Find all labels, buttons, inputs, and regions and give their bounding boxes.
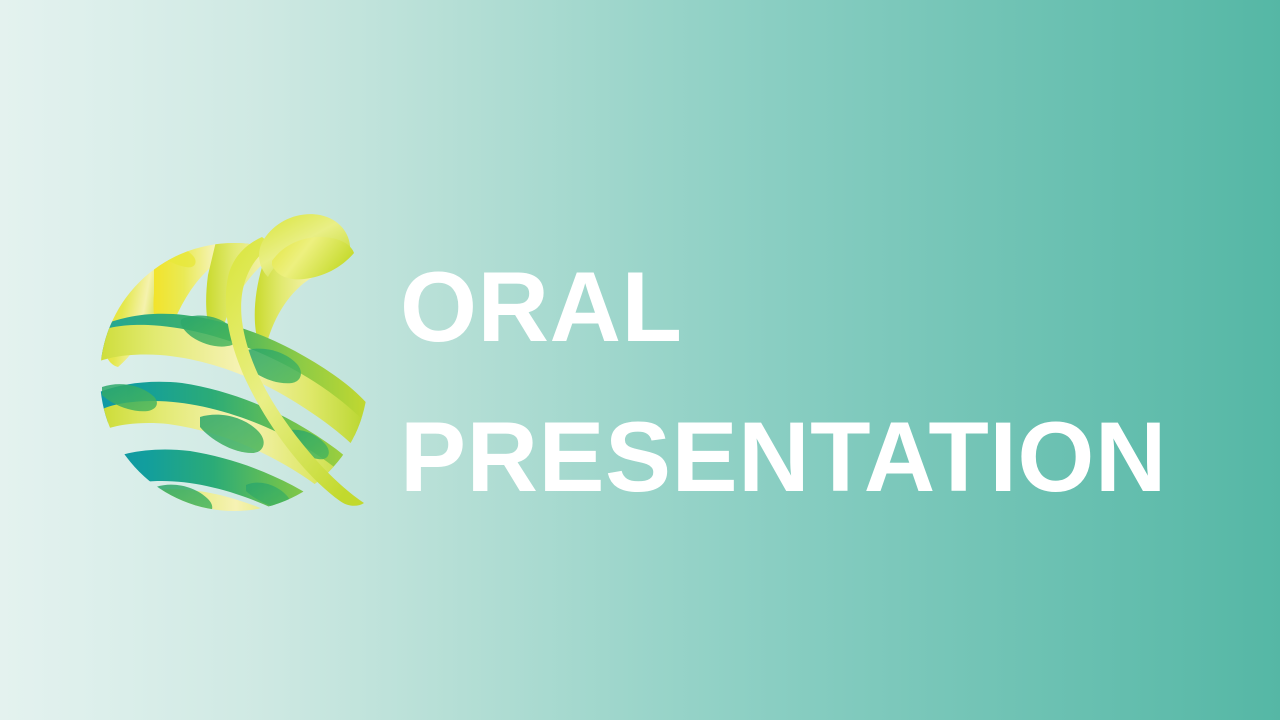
title-line-oral: ORAL <box>400 232 1230 382</box>
ribbon-bottom-green <box>148 517 328 520</box>
presentation-slide: ORAL PRESENTATION <box>0 0 1280 720</box>
title-line-presentation: PRESENTATION <box>400 382 1230 532</box>
globe-ribbon-leaf-logo <box>96 205 376 520</box>
slide-title: ORAL PRESENTATION <box>400 232 1230 532</box>
